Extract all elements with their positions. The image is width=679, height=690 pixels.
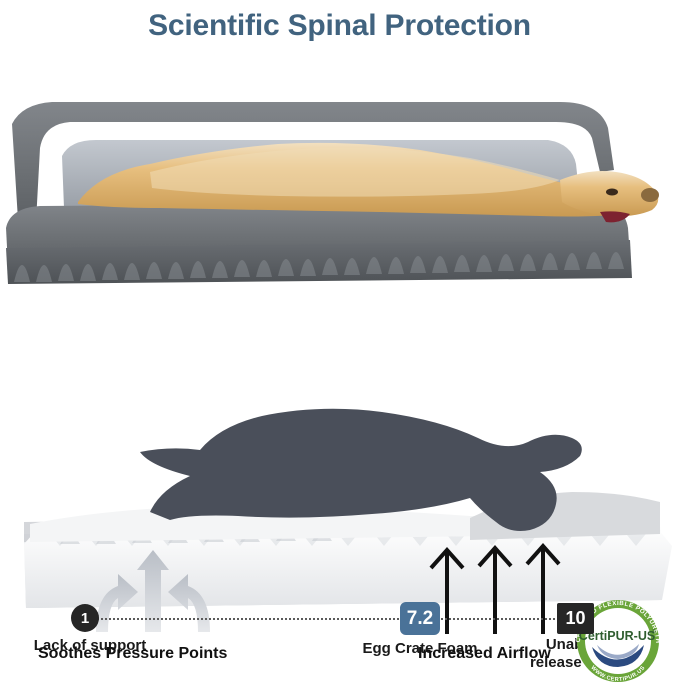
caption-soothes-pressure-points: Soothes Pressure Points (38, 645, 227, 663)
dog-nose (641, 188, 659, 202)
dog-on-bed-illustration (0, 52, 679, 284)
page-title: Scientific Spinal Protection (148, 9, 531, 43)
logo-registered-mark: ® (652, 628, 656, 635)
hero-product-photo (0, 52, 679, 284)
scale-badge-1: 1 (71, 604, 99, 632)
scale-badge-10: 10 (557, 603, 594, 634)
hardness-scale: Too soft 1 Lack of support Moderate hard… (0, 284, 679, 394)
scale-connector-line (84, 618, 587, 620)
scale-badge-7-2: 7.2 (400, 602, 440, 635)
page-header: Scientific Spinal Protection (0, 0, 679, 52)
dog-eye (606, 189, 618, 196)
caption-increased-airflow: Increased Airflow (418, 645, 551, 663)
dog-silhouette (140, 409, 582, 531)
